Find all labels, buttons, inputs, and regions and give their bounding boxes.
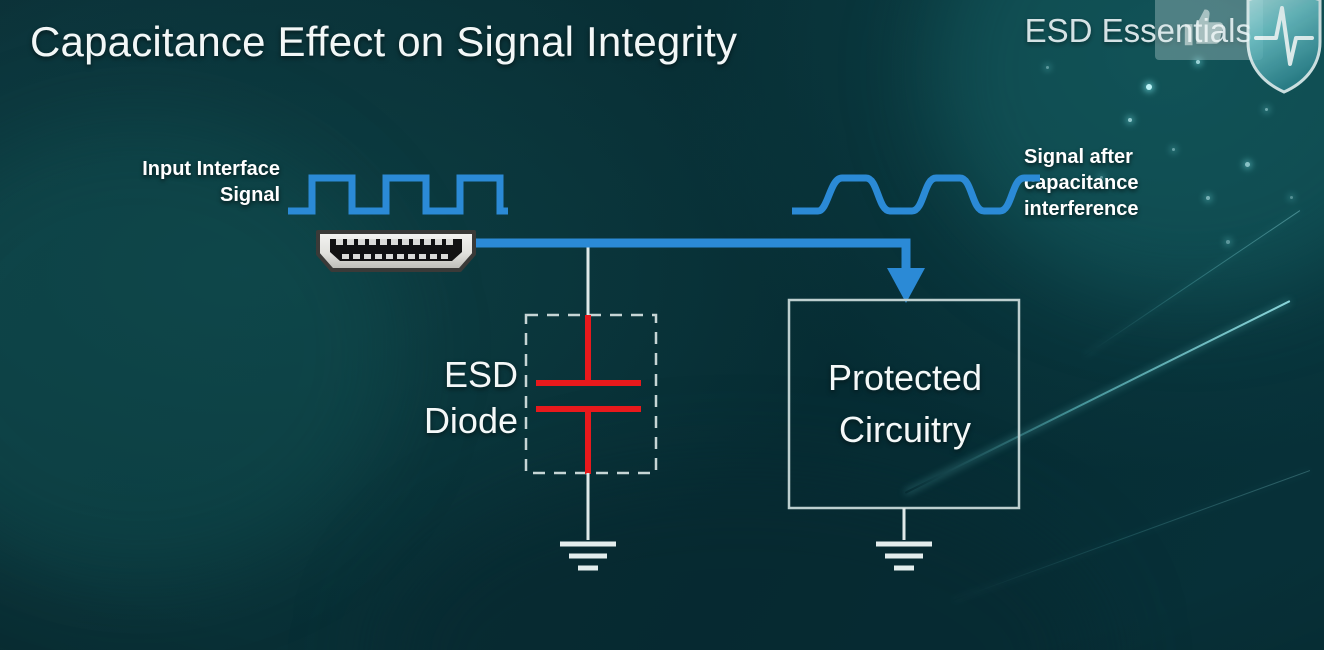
circuit-diagram (0, 0, 1324, 650)
ground-symbol-icon-right (876, 544, 932, 568)
ground-symbol-icon-left (560, 544, 616, 568)
protected-circuitry-box (789, 300, 1019, 508)
output-rounded-waveform (792, 178, 1040, 211)
signal-trace-arrow (470, 243, 925, 303)
hdmi-connector (310, 228, 482, 274)
hdmi-connector-icon (310, 228, 482, 274)
slide-canvas: Capacitance Effect on Signal Integrity E… (0, 0, 1324, 650)
input-square-waveform (288, 178, 508, 211)
capacitor-symbol-icon (536, 315, 641, 474)
